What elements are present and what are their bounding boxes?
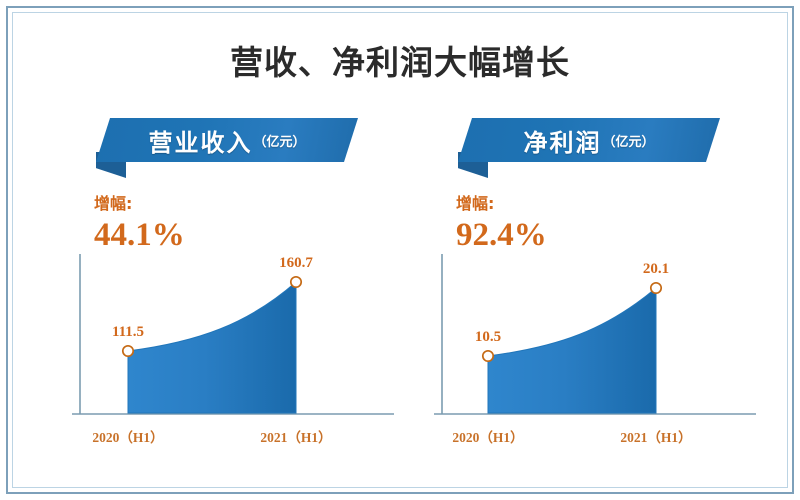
ribbon-label-group: 营业收入 （亿元） xyxy=(96,118,358,162)
x-tick-2020-net-profit: 2020（H1） xyxy=(452,430,523,445)
data-label-2021-net-profit: 20.1 xyxy=(643,261,669,277)
x-tick-2020-revenue: 2020（H1） xyxy=(92,430,163,445)
area-series-revenue xyxy=(128,282,296,413)
ribbon-banner-net-profit: 净利润 （亿元） xyxy=(458,118,720,180)
ribbon-label-group: 净利润 （亿元） xyxy=(458,118,720,162)
chart-net-profit: 10.5 20.1 2020（H1） 2021（H1） xyxy=(430,246,760,458)
data-marker-2020 xyxy=(123,346,133,356)
slide-canvas: 营收、净利润大幅增长 营业收入 （亿元） 增幅: 44.1% xyxy=(0,0,800,500)
panel-revenue: 营业收入 （亿元） 增幅: 44.1% xyxy=(58,118,403,458)
data-label-2020-net-profit: 10.5 xyxy=(475,329,501,345)
area-series-net-profit xyxy=(488,288,656,413)
panel-net-profit: 净利润 （亿元） 增幅: 92.4% xyxy=(420,118,765,458)
data-marker-2020 xyxy=(483,351,493,361)
data-label-2020-revenue: 111.5 xyxy=(112,324,144,340)
growth-label-net-profit: 增幅: xyxy=(456,196,547,212)
data-label-2021-revenue: 160.7 xyxy=(279,255,313,271)
growth-block-net-profit: 增幅: 92.4% xyxy=(456,196,547,252)
ribbon-title-net-profit: 净利润 xyxy=(523,123,601,158)
ribbon-unit-revenue: （亿元） xyxy=(253,131,305,150)
chart-revenue-svg: 111.5 160.7 2020（H1） 2021（H1） xyxy=(68,246,398,458)
chart-net-profit-svg: 10.5 20.1 2020（H1） 2021（H1） xyxy=(430,246,760,458)
data-marker-2021 xyxy=(291,277,301,287)
data-marker-2021 xyxy=(651,283,661,293)
chart-revenue: 111.5 160.7 2020（H1） 2021（H1） xyxy=(68,246,398,458)
ribbon-title-revenue: 营业收入 xyxy=(148,123,252,158)
growth-label-revenue: 增幅: xyxy=(94,196,185,212)
growth-block-revenue: 增幅: 44.1% xyxy=(94,196,185,252)
ribbon-banner-revenue: 营业收入 （亿元） xyxy=(96,118,358,180)
ribbon-unit-net-profit: （亿元） xyxy=(602,131,654,150)
page-title: 营收、净利润大幅增长 xyxy=(0,36,800,84)
x-tick-2021-net-profit: 2021（H1） xyxy=(620,430,691,445)
x-tick-2021-revenue: 2021（H1） xyxy=(260,430,331,445)
